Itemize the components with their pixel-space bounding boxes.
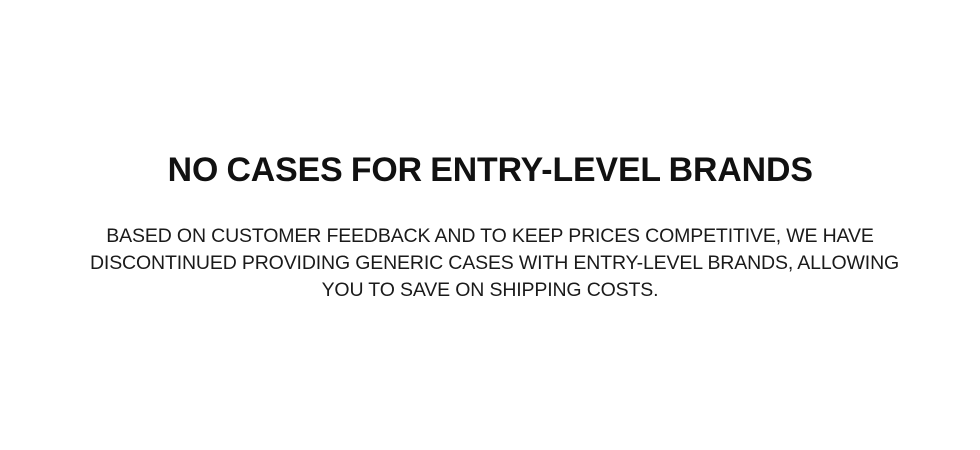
info-banner: NO CASES FOR ENTRY-LEVEL BRANDS BASED ON… [0,0,980,450]
body-line-1: BASED ON CUSTOMER FEEDBACK AND TO KEEP P… [90,223,890,250]
banner-body-text: BASED ON CUSTOMER FEEDBACK AND TO KEEP P… [90,223,890,304]
body-line-2: DISCONTINUED PROVIDING GENERIC CASES WIT… [90,250,890,277]
body-line-3: YOU TO SAVE ON SHIPPING COSTS. [90,277,890,304]
banner-headline: NO CASES FOR ENTRY-LEVEL BRANDS [167,152,812,188]
banner-content: NO CASES FOR ENTRY-LEVEL BRANDS BASED ON… [40,152,940,304]
